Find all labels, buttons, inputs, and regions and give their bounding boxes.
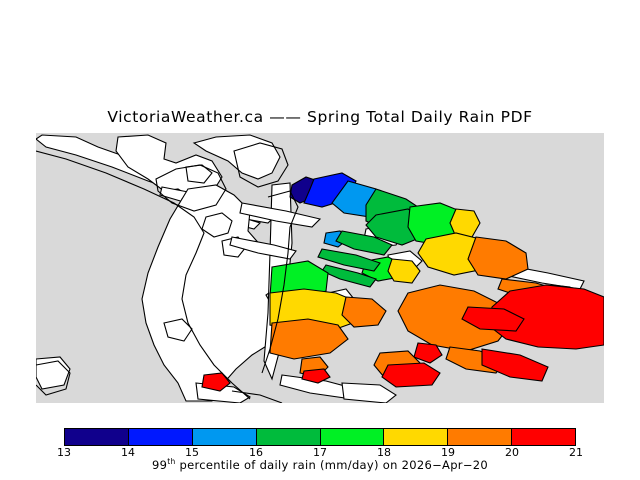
region-lower-central-island-east-lobe[interactable] — [482, 349, 548, 381]
colorbar[interactable] — [64, 428, 576, 446]
colorbar-segment-20-21[interactable] — [512, 429, 575, 445]
colorbar-segment-13-14[interactable] — [65, 429, 129, 445]
caption-prefix: 99 — [152, 458, 167, 472]
region-peninsula-south[interactable] — [270, 319, 348, 359]
map-panel[interactable] — [36, 133, 604, 403]
colorbar-segment-18-19[interactable] — [384, 429, 448, 445]
colorbar-segment-19-20[interactable] — [448, 429, 512, 445]
map-canvas[interactable] — [36, 133, 604, 403]
colorbar-segment-15-16[interactable] — [193, 429, 257, 445]
caption-superscript: th — [167, 457, 175, 466]
colorbar-segment-17-18[interactable] — [321, 429, 385, 445]
region-middle-island-east[interactable] — [468, 237, 528, 279]
colorbar-caption: 99th percentile of daily rain (mm/day) o… — [0, 458, 640, 472]
colorbar-segment-14-15[interactable] — [129, 429, 193, 445]
region-southern-islet-c-red[interactable] — [382, 363, 440, 387]
caption-rest: percentile of daily rain (mm/day) on 202… — [176, 458, 488, 472]
page-title: VictoriaWeather.ca —— Spring Total Daily… — [0, 108, 640, 126]
colorbar-segment-16-17[interactable] — [257, 429, 321, 445]
colorbar-track[interactable] — [64, 428, 576, 446]
